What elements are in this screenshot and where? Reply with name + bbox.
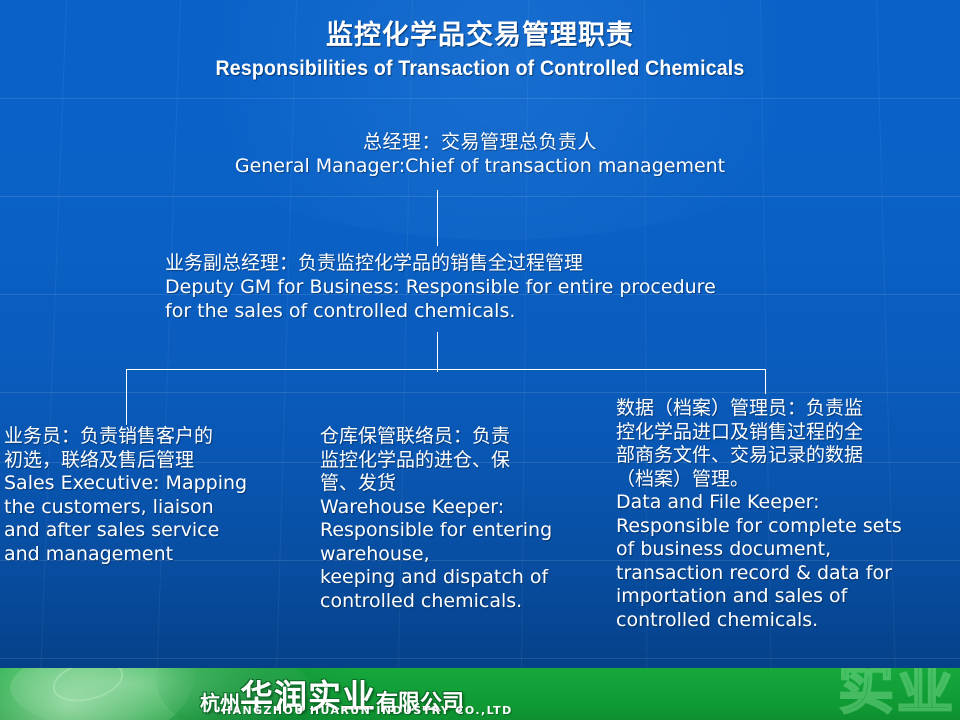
warehouse-keeper-chinese-line2: 监控化学品的进仓、保 [320,449,610,473]
footer-logo-english: HANGZHOU HUARUN INDUSTRY CO.,LTD [222,704,513,717]
sales-executive-chinese-line1: 业务员：负责销售客户的 [4,425,304,449]
sales-executive-chinese-line2: 初选，联络及售后管理 [4,449,304,473]
presentation-slide: 监控化学品交易管理职责 Responsibilities of Transact… [0,0,960,720]
background-grid-line [155,0,181,720]
general-manager-chinese: 总经理：交易管理总负责人 [0,131,960,155]
background-grid-line [0,196,960,197]
data-file-keeper-chinese-line2: 控化学品进口及销售过程的全 [616,421,952,445]
background-grid-line [38,0,67,720]
warehouse-keeper-english-line3: warehouse, [320,543,610,567]
deputy-gm-english-line1: Deputy GM for Business: Responsible for … [165,276,825,300]
data-file-keeper-english-line6: controlled chemicals. [616,609,952,633]
logo-watermark-text: 实业 [838,668,956,718]
general-manager-english: General Manager:Chief of transaction man… [0,155,960,179]
warehouse-keeper-english-line4: keeping and dispatch of [320,566,610,590]
sales-executive-english-line2: the customers, liaison [4,496,304,520]
warehouse-keeper-chinese-line3: 管、发货 [320,472,610,496]
org-node-general-manager: 总经理：交易管理总负责人 General Manager:Chief of tr… [0,131,960,179]
data-file-keeper-english-line3: of business document, [616,538,952,562]
data-file-keeper-chinese-line3: 部商务文件、交易记录的数据 [616,444,952,468]
connector-gm-to-deputy [437,190,438,246]
connector-bus-to-data [765,369,766,394]
sales-executive-english-line4: and management [4,543,304,567]
background-grid-line [0,392,960,393]
sales-executive-english-line3: and after sales service [4,519,304,543]
org-node-deputy-gm: 业务副总经理：负责监控化学品的销售全过程管理 Deputy GM for Bus… [165,252,825,324]
data-file-keeper-english-line4: transaction record & data for [616,562,952,586]
data-file-keeper-english-line2: Responsible for complete sets [616,515,952,539]
data-file-keeper-chinese-line1: 数据（档案）管理员：负责监 [616,397,952,421]
connector-horizontal-bus [126,369,766,370]
data-file-keeper-english-line1: Data and File Keeper: [616,491,952,515]
warehouse-keeper-english-line1: Warehouse Keeper: [320,496,610,520]
data-file-keeper-english-line5: importation and sales of [616,585,952,609]
deputy-gm-english-line2: for the sales of controlled chemicals. [165,300,825,324]
warehouse-keeper-english-line5: controlled chemicals. [320,590,610,614]
slide-title: 监控化学品交易管理职责 Responsibilities of Transact… [0,20,960,82]
slide-title-english: Responsibilities of Transaction of Contr… [34,57,927,82]
warehouse-keeper-chinese-line1: 仓库保管联络员：负责 [320,425,610,449]
footer-logo-bar: 实业 杭州华润实业有限公司 HANGZHOU HUARUN INDUSTRY C… [0,668,960,720]
background-grid-line [0,658,960,659]
org-node-sales-executive: 业务员：负责销售客户的 初选，联络及售后管理 Sales Executive: … [4,425,304,566]
org-node-data-file-keeper: 数据（档案）管理员：负责监 控化学品进口及销售过程的全 部商务文件、交易记录的数… [616,397,952,632]
connector-deputy-to-bus [437,332,438,372]
deputy-gm-chinese: 业务副总经理：负责监控化学品的销售全过程管理 [165,252,825,276]
org-node-warehouse-keeper: 仓库保管联络员：负责 监控化学品的进仓、保 管、发货 Warehouse Kee… [320,425,610,613]
sales-executive-english-line1: Sales Executive: Mapping [4,472,304,496]
background-grid-line [275,0,297,720]
slide-title-chinese: 监控化学品交易管理职责 [0,20,960,52]
connector-bus-to-sales [126,369,127,425]
warehouse-keeper-english-line2: Responsible for entering [320,519,610,543]
data-file-keeper-chinese-line4: （档案）管理。 [616,468,952,492]
background-grid-line [0,98,960,99]
